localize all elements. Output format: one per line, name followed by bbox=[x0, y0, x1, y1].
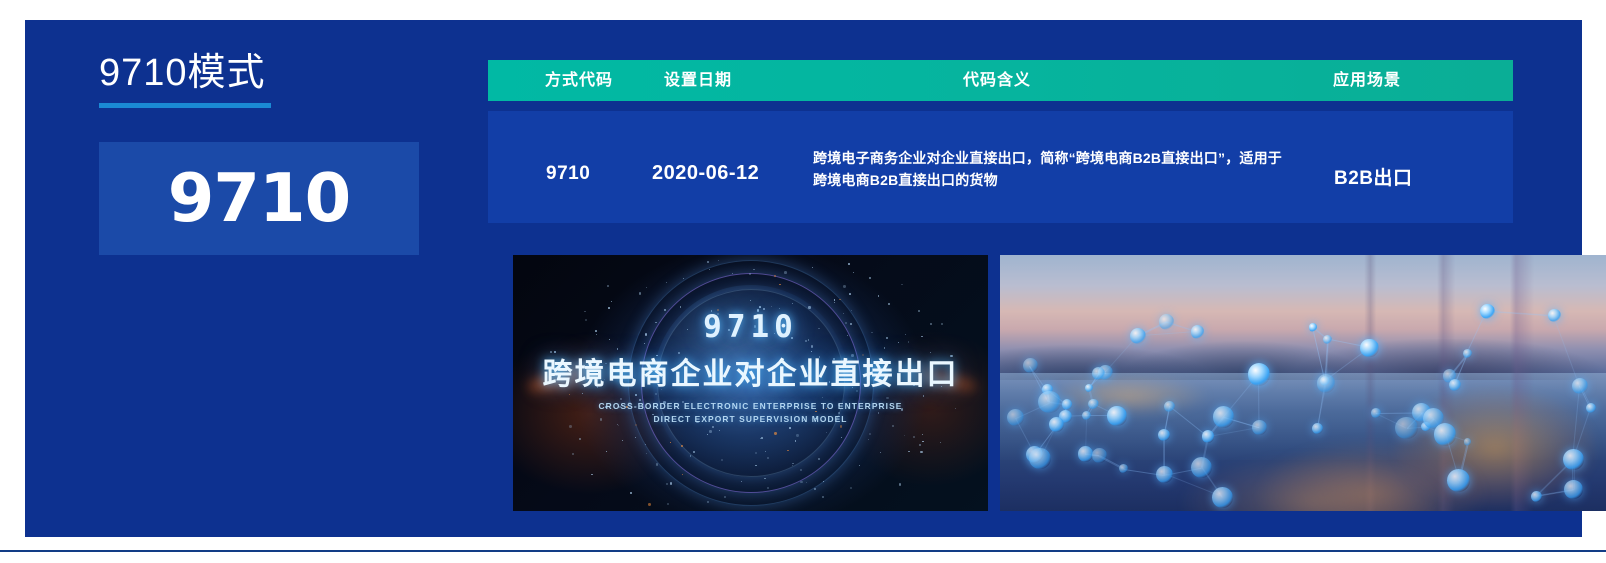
table-header-row: 方式代码 设置日期 代码含义 应用场景 bbox=[488, 60, 1513, 101]
particle-dot bbox=[868, 439, 869, 440]
particle-dot bbox=[591, 474, 592, 475]
particle-dot bbox=[680, 306, 681, 307]
images-row: 9710 跨境电商企业对企业直接出口 CROSS-BORDER ELECTRON… bbox=[513, 255, 1606, 511]
particle-dot bbox=[646, 287, 647, 288]
particle-dot bbox=[848, 263, 850, 265]
particle-dot bbox=[849, 293, 851, 295]
title-underline bbox=[99, 103, 271, 108]
particle-dot bbox=[843, 285, 845, 287]
particle-dot bbox=[646, 453, 647, 454]
page-title: 9710模式 bbox=[99, 52, 439, 95]
particle-dot bbox=[919, 444, 920, 445]
cell-code: 9710 bbox=[546, 163, 590, 185]
table-row: 9710 2020-06-12 跨境电子商务企业对企业直接出口，简称“跨境电商B… bbox=[488, 111, 1513, 223]
table-header-code: 方式代码 bbox=[545, 60, 613, 101]
particle-dot bbox=[869, 277, 871, 279]
cell-meaning: 跨境电子商务企业对企业直接出口，简称“跨境电商B2B直接出口”，适用于跨境电商B… bbox=[813, 148, 1291, 191]
particle-dot bbox=[767, 457, 769, 459]
banner-subtitle-line1: CROSS-BORDER ELECTRONIC ENTERPRISE TO EN… bbox=[513, 400, 988, 413]
right-column: 方式代码 设置日期 代码含义 应用场景 9710 2020-06-12 跨境电子… bbox=[488, 60, 1513, 223]
particle-dot bbox=[712, 426, 714, 428]
table-header-date: 设置日期 bbox=[664, 60, 732, 101]
particle-dot bbox=[792, 303, 793, 304]
particle-dot bbox=[666, 483, 667, 484]
cell-scene: B2B出口 bbox=[1334, 163, 1413, 190]
particle-dot bbox=[839, 299, 840, 300]
particle-dot bbox=[606, 451, 607, 452]
banner-headline: 跨境电商企业对企业直接出口 bbox=[513, 349, 988, 393]
particle-dot bbox=[724, 496, 726, 498]
particle-dot bbox=[718, 260, 719, 261]
bottom-divider bbox=[0, 550, 1606, 552]
particle-dot bbox=[755, 452, 757, 454]
city-network-image bbox=[1000, 255, 1606, 511]
banner-subtitle: CROSS-BORDER ELECTRONIC ENTERPRISE TO EN… bbox=[513, 400, 988, 426]
particle-dot bbox=[656, 463, 658, 465]
particle-dot bbox=[869, 433, 871, 435]
particle-dot bbox=[622, 440, 623, 441]
code-highlight-box: 9710 bbox=[99, 142, 419, 255]
particle-dot bbox=[823, 481, 824, 482]
particle-dot bbox=[796, 434, 798, 436]
content-panel: 9710模式 9710 方式代码 设置日期 代码含义 应用场景 9710 202… bbox=[25, 20, 1582, 537]
particle-dot bbox=[774, 432, 776, 434]
particle-dot bbox=[707, 261, 709, 263]
banner-text-block: 9710 跨境电商企业对企业直接出口 CROSS-BORDER ELECTRON… bbox=[513, 309, 988, 426]
particle-dot bbox=[732, 273, 733, 274]
cell-date: 2020-06-12 bbox=[652, 162, 759, 185]
particle-dot bbox=[639, 292, 641, 294]
particle-dot bbox=[920, 451, 922, 453]
left-column: 9710模式 9710 bbox=[99, 52, 439, 255]
page-root: 9710模式 9710 方式代码 设置日期 代码含义 应用场景 9710 202… bbox=[0, 0, 1606, 563]
particle-dot bbox=[707, 501, 708, 502]
city-tint bbox=[1000, 255, 1606, 511]
particle-dot bbox=[904, 435, 905, 436]
table-header-meaning: 代码含义 bbox=[963, 60, 1031, 101]
particle-dot bbox=[784, 271, 787, 274]
banner-code-number: 9710 bbox=[513, 309, 988, 345]
particle-dot bbox=[880, 452, 881, 453]
particle-dot bbox=[760, 438, 761, 439]
particle-dot bbox=[792, 463, 793, 464]
particle-dot bbox=[709, 430, 711, 432]
particle-dot bbox=[648, 503, 650, 505]
particle-dot bbox=[667, 503, 669, 505]
particle-dot bbox=[771, 306, 772, 307]
particle-dot bbox=[761, 437, 763, 439]
particle-dot bbox=[922, 434, 923, 435]
banner-image-9710: 9710 跨境电商企业对企业直接出口 CROSS-BORDER ELECTRON… bbox=[513, 255, 988, 511]
particle-dot bbox=[789, 427, 791, 429]
banner-subtitle-line2: DIRECT EXPORT SUPERVISION MODEL bbox=[513, 413, 988, 426]
code-highlight-number: 9710 bbox=[168, 165, 350, 232]
table-header-scene: 应用场景 bbox=[1333, 60, 1401, 101]
